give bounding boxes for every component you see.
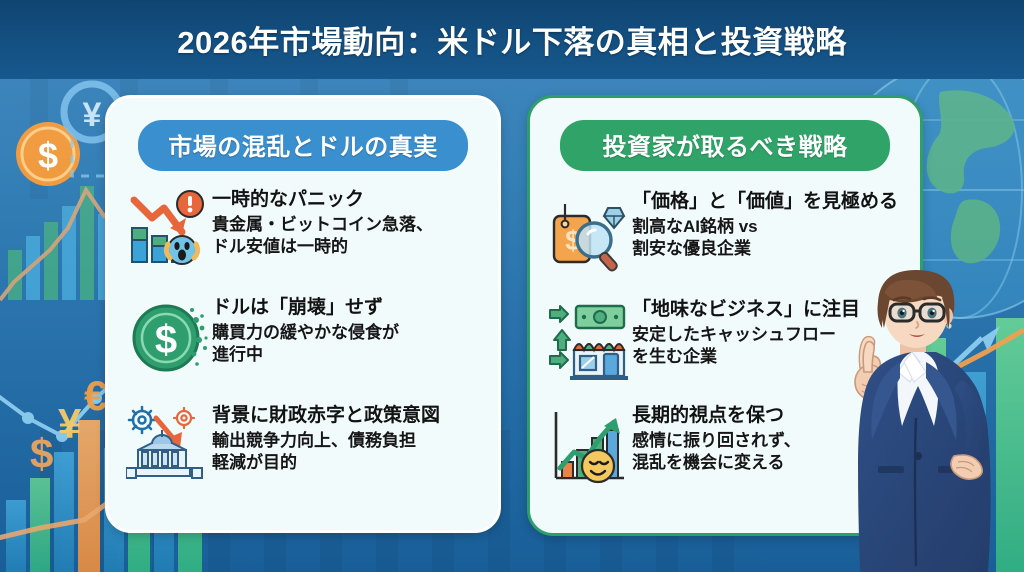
list-item[interactable]: 一時的なパニック 貴金属・ビットコイン急落、 ドル安値は一時的 (124, 184, 484, 276)
list-item-text: ドルは「崩壊」せず 購買力の緩やかな侵食が 進行中 (212, 292, 484, 365)
yen-symbol-decor: ¥ (58, 400, 82, 447)
government-policy-gears-icon (124, 400, 212, 492)
price-tag-magnifier-diamond-icon: $ (544, 186, 632, 278)
list-item-text: 背景に財政赤字と政策意図 輸出競争力向上、債務負担 軽減が目的 (212, 400, 484, 473)
list-item-title: 一時的なパニック (212, 189, 484, 211)
diamond (604, 208, 624, 228)
dollar-coin-icon: $ (16, 122, 80, 186)
list-item-title: 「価格」と「価値」を見極める (632, 191, 906, 213)
left-card-items: 一時的なパニック 貴金属・ビットコイン急落、 ドル安値は一時的 $ (124, 184, 484, 492)
list-item-title: 背景に財政赤字と政策意図 (212, 405, 484, 427)
list-item-text: 一時的なパニック 貴金属・ビットコイン急落、 ドル安値は一時的 (212, 184, 484, 257)
list-item-desc: 輸出競争力向上、債務負担 軽減が目的 (212, 430, 484, 473)
svg-text:$: $ (38, 135, 58, 176)
falling-chart-panic-icon (124, 184, 212, 276)
header-band: 2026年市場動向：米ドル下落の真相と投資戦略 (0, 0, 1024, 79)
euro-symbol-decor: € (84, 372, 107, 419)
growth-chart-calm-face-icon (544, 400, 632, 492)
list-item-text: 「価格」と「価値」を見極める 割高なAI銘柄 vs 割安な優良企業 (632, 186, 906, 259)
svg-text:¥: ¥ (83, 96, 102, 134)
list-item-desc: 購買力の緩やかな侵食が 進行中 (212, 322, 484, 365)
left-card-heading: 市場の混乱とドルの真実 (138, 120, 468, 171)
page-title: 2026年市場動向：米ドル下落の真相と投資戦略 (177, 17, 846, 62)
slide-canvas: $ ¥ $ ¥ € (0, 0, 1024, 572)
list-item[interactable]: $ ドルは「崩壊」せず 購買力の緩やかな侵食が 進行中 (124, 292, 484, 384)
list-item-title: ドルは「崩壊」せず (212, 297, 484, 319)
storefront-cashflow-icon (544, 294, 632, 386)
list-item-desc: 貴金属・ビットコイン急落、 ドル安値は一時的 (212, 214, 484, 257)
dollar-coin-eroding-icon: $ (124, 292, 212, 384)
svg-text:$: $ (155, 318, 177, 362)
dollar-symbol-decor: $ (30, 430, 53, 477)
left-card: 市場の混乱とドルの真実 (105, 95, 501, 533)
list-item[interactable]: 背景に財政赤字と政策意図 輸出競争力向上、債務負担 軽減が目的 (124, 400, 484, 492)
business-woman-presenter (804, 260, 1024, 572)
right-card-heading: 投資家が取るべき戦略 (560, 120, 890, 171)
list-item-desc: 割高なAI銘柄 vs 割安な優良企業 (632, 216, 906, 259)
